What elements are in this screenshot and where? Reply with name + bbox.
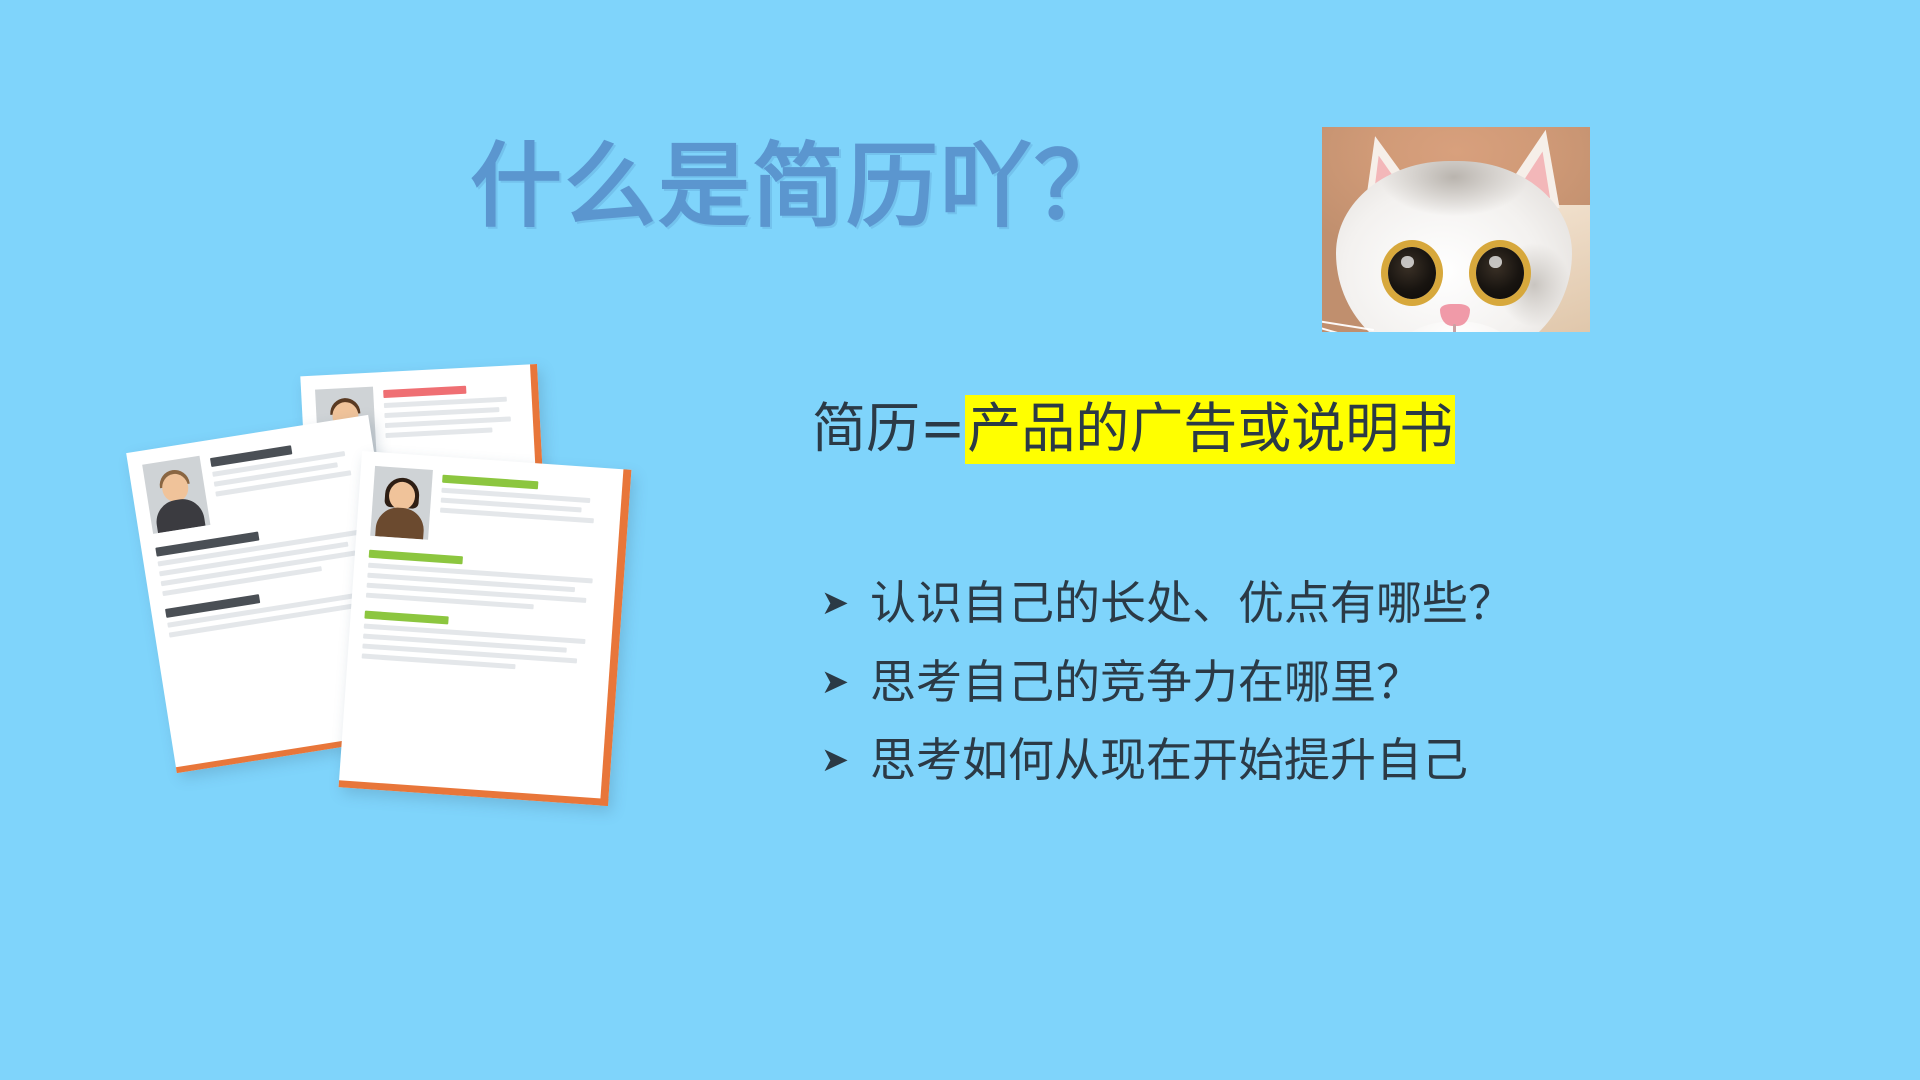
resume-illustration: Zong.com [120, 370, 760, 840]
list-item-label: 思考自己的竞争力在哪里？ [870, 657, 1422, 708]
cat-eye-right-icon [1476, 247, 1524, 299]
definition-prefix: 简历= [812, 397, 965, 460]
arrow-bullet-icon: ➤ [818, 586, 852, 620]
list-item: ➤ 认识自己的长处、优点有哪些？ [818, 578, 1514, 629]
resume-avatar [142, 456, 210, 534]
page-title: 什么是简历吖？ [470, 132, 1330, 242]
arrow-bullet-icon: ➤ [818, 665, 852, 699]
list-item-label: 思考如何从现在开始提升自己 [870, 735, 1468, 786]
cat-eye-left-icon [1388, 247, 1436, 299]
cat-mouth-icon [1453, 324, 1456, 332]
resume-avatar [370, 466, 433, 540]
arrow-bullet-icon: ➤ [818, 743, 852, 777]
slide-canvas: 什么是简历吖？ [0, 0, 1920, 1080]
list-item: ➤ 思考如何从现在开始提升自己 [818, 735, 1514, 786]
cat-photo-image [1322, 127, 1590, 332]
list-item: ➤ 思考自己的竞争力在哪里？ [818, 657, 1514, 708]
bullet-list: ➤ 认识自己的长处、优点有哪些？ ➤ 思考自己的竞争力在哪里？ ➤ 思考如何从现… [818, 578, 1514, 786]
resume-sheet-front [339, 451, 632, 806]
definition-highlighted-text: 产品的广告或说明书 [965, 395, 1455, 464]
cat-head-icon [1336, 161, 1572, 332]
resume-definition-line: 简历=产品的广告或说明书 [812, 398, 1455, 460]
list-item-label: 认识自己的长处、优点有哪些？ [870, 578, 1514, 629]
